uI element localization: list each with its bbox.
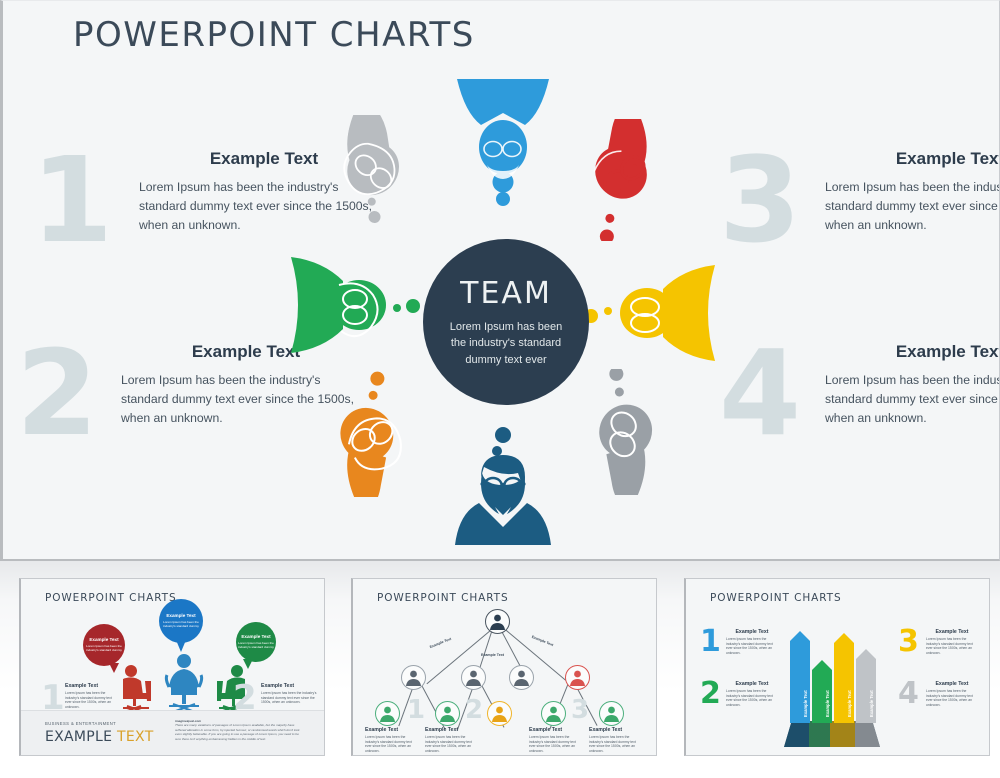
info-body-4: Lorem Ipsum has been the industry's stan…	[825, 371, 1000, 428]
thumb3-bar-3-label: Example Text	[847, 690, 852, 717]
big-number-1: 1	[31, 141, 113, 259]
thumbnail-slide-2[interactable]: POWERPOINT CHARTS Example Text Example T…	[351, 578, 657, 756]
thumb1-bubble-red: Example Text Lorem Ipsum has been the in…	[83, 624, 125, 666]
core-subtitle: Lorem Ipsum has been the industry's stan…	[445, 319, 567, 369]
org-edge-label-2: Example Text	[481, 653, 504, 657]
thumb1-bubble-green-heading: Example Text	[241, 634, 270, 639]
thumb1-title: POWERPOINT CHARTS	[45, 592, 177, 604]
person-left-green-icon	[283, 251, 423, 359]
org-edge-label-1: Example Text	[429, 637, 452, 649]
org-node-root	[485, 609, 510, 634]
info-block-4: Example Text Lorem Ipsum has been the in…	[825, 342, 1000, 428]
person-lower-right-gray-icon	[555, 369, 695, 495]
org-node-mid-1	[401, 665, 426, 690]
thumb1-footer-link[interactable]: imagineiqual.com	[175, 719, 201, 723]
thumb3-block-2-body: Lorem Ipsum has been the industry's stan…	[726, 689, 778, 707]
person-upper-left-gray-icon	[298, 115, 438, 235]
thumb3-title: POWERPOINT CHARTS	[710, 592, 842, 604]
thumbnail-slide-3[interactable]: POWERPOINT CHARTS Example Text Example T…	[684, 578, 990, 756]
thumb2-number-1: 1	[407, 697, 425, 723]
thumb3-block-1: Example Text Lorem Ipsum has been the in…	[726, 629, 778, 655]
thumb1-bubble-green-body: Lorem Ipsum has been the industry's stan…	[236, 642, 276, 650]
person-mid-3-icon	[510, 666, 533, 689]
main-slide: POWERPOINT CHARTS 1 2 3 4 Example Text L…	[0, 0, 1000, 561]
thumb1-footer: BUSINESS & ENTERTAINMENT EXAMPLE TEXT im…	[21, 710, 324, 755]
thumb1-block-2-heading: Example Text	[261, 683, 317, 689]
org-node-leaf-4	[541, 701, 566, 726]
info-body-3: Lorem Ipsum has been the industry's stan…	[825, 178, 1000, 235]
thumb3-block-2: Example Text Lorem Ipsum has been the in…	[726, 681, 778, 707]
thumb2-title: POWERPOINT CHARTS	[377, 592, 509, 604]
person-mid-2-icon	[462, 666, 485, 689]
thumb3-block-1-heading: Example Text	[726, 629, 778, 635]
org-node-leaf-5	[599, 701, 624, 726]
thumb1-block-2-body: Lorem Ipsum has been the industry's stan…	[261, 691, 317, 705]
thumb2-number-3: 3	[571, 697, 589, 723]
org-node-leaf-2	[435, 701, 460, 726]
page-title: POWERPOINT CHARTS	[73, 15, 475, 55]
person-upper-right-red-icon	[555, 119, 697, 241]
thumb1-footer-paragraph: imagineiqual.com There are many variatio…	[175, 719, 303, 741]
thumb1-seated-blue-icon	[163, 651, 205, 713]
thumb3-number-1: 1	[700, 627, 721, 657]
thumb2-caption-4-body: Lorem Ipsum has been the industry's stan…	[589, 735, 641, 753]
thumb2-caption-2: Example Text Lorem Ipsum has been the in…	[425, 727, 473, 753]
person-top-blue-icon	[447, 79, 559, 209]
thumb2-caption-4: Example Text Lorem Ipsum has been the in…	[589, 727, 641, 753]
person-mid-1-icon	[402, 666, 425, 689]
thumb2-caption-3: Example Text Lorem Ipsum has been the in…	[529, 727, 581, 753]
thumb1-block-2: Example Text Lorem Ipsum has been the in…	[261, 683, 317, 705]
thumb3-block-4: Example Text Lorem Ipsum has been the in…	[926, 681, 978, 707]
thumb2-caption-4-heading: Example Text	[589, 727, 641, 733]
big-number-4: 4	[719, 334, 801, 452]
person-leaf-4-icon	[542, 702, 565, 725]
thumb3-bar-1-label: Example Text	[803, 690, 808, 717]
thumb2-caption-3-heading: Example Text	[529, 727, 581, 733]
thumb1-bubble-red-heading: Example Text	[89, 637, 118, 642]
thumb3-bar-4-label: Example Text	[869, 690, 874, 717]
person-leaf-1-icon	[376, 702, 399, 725]
org-node-mid-3	[509, 665, 534, 690]
thumb1-footer-text: There are many variations of passages of…	[175, 723, 300, 740]
info-block-3: Example Text Lorem Ipsum has been the in…	[825, 149, 1000, 235]
thumb3-block-3: Example Text Lorem Ipsum has been the in…	[926, 629, 978, 655]
team-core-circle: TEAM Lorem Ipsum has been the industry's…	[423, 239, 589, 405]
person-mid-4-icon	[566, 666, 589, 689]
info-heading-4: Example Text	[825, 342, 1000, 362]
person-leaf-3-icon	[488, 702, 511, 725]
person-leaf-2-icon	[436, 702, 459, 725]
thumb3-block-4-body: Lorem Ipsum has been the industry's stan…	[926, 689, 978, 707]
big-number-2: 2	[16, 334, 98, 452]
thumb3-bar-2-label: Example Text	[825, 690, 830, 717]
person-lower-left-orange-icon	[299, 371, 439, 497]
thumb3-number-4: 4	[898, 679, 919, 709]
thumb1-block-1-heading: Example Text	[65, 683, 119, 689]
thumb2-caption-2-body: Lorem Ipsum has been the industry's stan…	[425, 735, 473, 753]
thumb1-seated-red-icon	[117, 663, 157, 711]
thumb3-number-2: 2	[700, 679, 721, 709]
thumb1-footer-eyebrow: BUSINESS & ENTERTAINMENT	[45, 721, 116, 726]
core-title: TEAM	[460, 276, 552, 311]
thumb3-platform-shadow	[784, 721, 880, 747]
thumb2-caption-1-body: Lorem Ipsum has been the industry's stan…	[365, 735, 413, 753]
thumb1-footer-title-main: EXAMPLE	[45, 729, 112, 745]
org-edge-label-3: Example Text	[531, 635, 554, 647]
org-node-mid-4-highlighted	[565, 665, 590, 690]
info-heading-3: Example Text	[825, 149, 1000, 169]
thumb1-bubble-red-body: Lorem Ipsum has been the industry's stan…	[83, 645, 125, 653]
thumb1-footer-title-accent: TEXT	[117, 729, 154, 745]
thumb3-block-1-body: Lorem Ipsum has been the industry's stan…	[726, 637, 778, 655]
thumbnail-strip: POWERPOINT CHARTS Example Text Lorem Ips…	[0, 561, 1000, 778]
person-bottom-navy-icon	[447, 425, 559, 545]
thumb3-number-3: 3	[898, 627, 919, 657]
big-number-3: 3	[719, 141, 801, 259]
thumb1-block-1-body: Lorem Ipsum has been the industry's stan…	[65, 691, 119, 709]
thumb1-footer-title: EXAMPLE TEXT	[45, 729, 154, 745]
thumb2-caption-1: Example Text Lorem Ipsum has been the in…	[365, 727, 413, 753]
org-node-leaf-1	[375, 701, 400, 726]
thumb1-block-1: Example Text Lorem Ipsum has been the in…	[65, 683, 119, 709]
thumb2-caption-2-heading: Example Text	[425, 727, 473, 733]
thumb3-block-2-heading: Example Text	[726, 681, 778, 687]
thumb3-block-4-heading: Example Text	[926, 681, 978, 687]
thumb2-caption-3-body: Lorem Ipsum has been the industry's stan…	[529, 735, 581, 753]
thumb2-number-2: 2	[465, 697, 483, 723]
org-node-leaf-3	[487, 701, 512, 726]
thumb3-block-3-body: Lorem Ipsum has been the industry's stan…	[926, 637, 978, 655]
org-node-mid-2	[461, 665, 486, 690]
thumb3-block-3-heading: Example Text	[926, 629, 978, 635]
person-root-icon	[486, 610, 509, 633]
thumb1-bubble-blue-body: Lorem Ipsum has been the industry's stan…	[159, 621, 203, 629]
thumb2-caption-1-heading: Example Text	[365, 727, 413, 733]
thumb1-bubble-blue-heading: Example Text	[166, 613, 195, 618]
team-circle-diagram: TEAM Lorem Ipsum has been the industry's…	[283, 79, 723, 539]
thumbnail-slide-1[interactable]: POWERPOINT CHARTS Example Text Lorem Ips…	[19, 578, 325, 756]
person-right-yellow-icon	[583, 261, 723, 369]
person-leaf-5-icon	[600, 702, 623, 725]
thumb1-bubble-blue: Example Text Lorem Ipsum has been the in…	[159, 599, 203, 643]
thumb1-bubble-green: Example Text Lorem Ipsum has been the in…	[236, 622, 276, 662]
